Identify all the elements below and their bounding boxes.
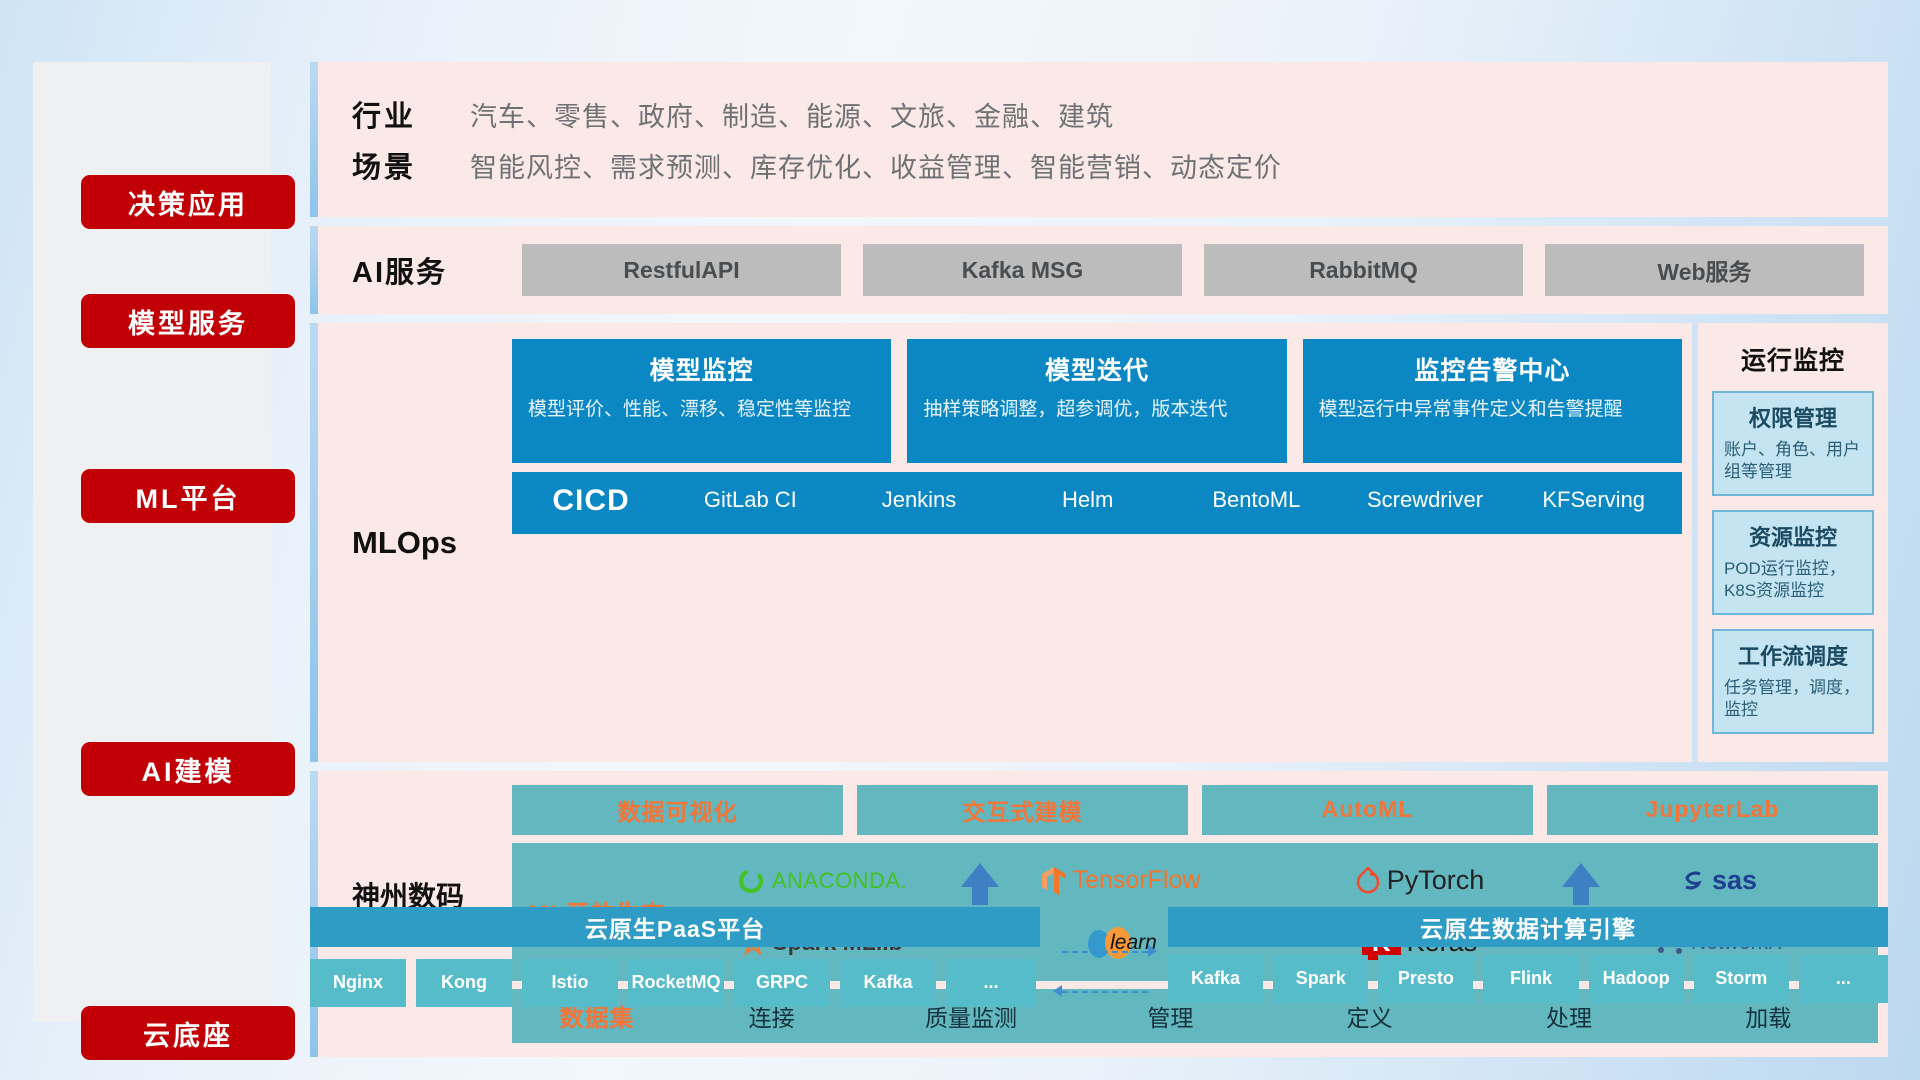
monitor-card-workflow[interactable]: 工作流调度 任务管理，调度，监控: [1712, 629, 1874, 734]
layer-rail: 决策应用 模型服务 ML平台 AI建模 云底座: [33, 62, 271, 1022]
mlops-card-desc: 抽样策略调整，超参调优，版本迭代: [923, 397, 1270, 422]
cicd-title: CICD: [516, 480, 666, 518]
rail-item-ai-modeling[interactable]: AI建模: [81, 742, 295, 796]
monitor-card-desc: 任务管理，调度，监控: [1724, 677, 1862, 722]
ai-service-chip-row: RestfulAPI Kafka MSG RabbitMQ Web服务: [522, 244, 1864, 296]
scenario-value: 智能风控、需求预测、库存优化、收益管理、智能营销、动态定价: [470, 146, 1282, 185]
arrow-up-data-stem: [1573, 887, 1589, 905]
mllab-tool-automl[interactable]: AutoML: [1202, 785, 1533, 835]
data-chip-hadoop[interactable]: Hadoop: [1589, 955, 1684, 1003]
service-chip-web[interactable]: Web服务: [1545, 244, 1864, 296]
mlops-card-title: 监控告警中心: [1319, 351, 1666, 387]
arrow-up-data-icon: [1562, 863, 1600, 887]
mlops-card-alert-center[interactable]: 监控告警中心 模型运行中异常事件定义和告警提醒: [1303, 339, 1682, 463]
data-chip-presto[interactable]: Presto: [1378, 955, 1473, 1003]
cicd-row: CICD GitLab CI Jenkins Helm BentoML Scre…: [512, 472, 1682, 534]
band-ml-platform: MLOps 模型监控 模型评价、性能、漂移、稳定性等监控 模型迭代 抽样策略调整…: [310, 323, 1888, 762]
paas-chip-nginx[interactable]: Nginx: [310, 959, 406, 1007]
cloud-base-layer: 云原生PaaS平台 Nginx Kong Istio RocketMQ GRPC…: [310, 885, 1888, 1025]
industry-row: 行业 汽车、零售、政府、制造、能源、文旅、金融、建筑: [352, 93, 1862, 135]
data-chip-kafka[interactable]: Kafka: [1168, 955, 1263, 1003]
mlops-card-title: 模型监控: [528, 351, 875, 387]
cicd-item-screwdriver[interactable]: Screwdriver: [1341, 480, 1510, 511]
scenario-label: 场景: [352, 144, 470, 186]
cicd-item-jenkins[interactable]: Jenkins: [835, 480, 1004, 511]
runtime-monitor-panel: 运行监控 权限管理 账户、角色、用户组等管理 资源监控 POD运行监控，K8S资…: [1692, 323, 1888, 762]
paas-chip-grpc[interactable]: GRPC: [734, 959, 830, 1007]
mllab-tool-row: 数据可视化 交互式建模 AutoML JupyterLab: [512, 785, 1878, 835]
diagram-canvas: 决策应用 模型服务 ML平台 AI建模 云底座 行业 汽车、零售、政府、制造、能…: [0, 0, 1920, 1080]
mllab-tool-interactive-modeling[interactable]: 交互式建模: [857, 785, 1188, 835]
data-chip-row: Kafka Spark Presto Flink Hadoop Storm ..…: [1168, 955, 1888, 1003]
mlops-card-desc: 模型评价、性能、漂移、稳定性等监控: [528, 397, 875, 422]
monitor-card-permission[interactable]: 权限管理 账户、角色、用户组等管理: [1712, 391, 1874, 496]
mlops-section: MLOps 模型监控 模型评价、性能、漂移、稳定性等监控 模型迭代 抽样策略调整…: [318, 323, 1692, 762]
cloud-bar-paas[interactable]: 云原生PaaS平台: [310, 907, 1040, 947]
mlops-card-title: 模型迭代: [923, 351, 1270, 387]
service-chip-restfulapi[interactable]: RestfulAPI: [522, 244, 841, 296]
mlops-card-desc: 模型运行中异常事件定义和告警提醒: [1319, 397, 1666, 422]
paas-chip-istio[interactable]: Istio: [522, 959, 618, 1007]
connector-arrow-right-icon: [1148, 945, 1157, 957]
arrow-up-paas-icon: [961, 863, 999, 887]
paas-chip-kafka[interactable]: Kafka: [840, 959, 936, 1007]
cicd-item-bentoml[interactable]: BentoML: [1172, 480, 1341, 511]
connector-dashed-left: [1062, 991, 1148, 993]
industry-value: 汽车、零售、政府、制造、能源、文旅、金融、建筑: [470, 95, 1114, 134]
paas-chip-kong[interactable]: Kong: [416, 959, 512, 1007]
monitor-card-resource[interactable]: 资源监控 POD运行监控，K8S资源监控: [1712, 510, 1874, 615]
runtime-monitor-title: 运行监控: [1712, 341, 1874, 377]
band-decision-app: 行业 汽车、零售、政府、制造、能源、文旅、金融、建筑 场景 智能风控、需求预测、…: [310, 62, 1888, 217]
data-chip-spark[interactable]: Spark: [1273, 955, 1368, 1003]
rail-item-cloud-base[interactable]: 云底座: [81, 1006, 295, 1060]
ai-service-label: AI服务: [352, 249, 522, 291]
mlops-card-row: 模型监控 模型评价、性能、漂移、稳定性等监控 模型迭代 抽样策略调整，超参调优，…: [512, 339, 1682, 463]
monitor-card-title: 工作流调度: [1724, 639, 1862, 671]
cicd-item-gitlab-ci[interactable]: GitLab CI: [666, 480, 835, 511]
mllab-tool-jupyterlab[interactable]: JupyterLab: [1547, 785, 1878, 835]
service-chip-rabbitmq[interactable]: RabbitMQ: [1204, 244, 1523, 296]
rail-item-model-service[interactable]: 模型服务: [81, 294, 295, 348]
data-chip-more[interactable]: ...: [1799, 955, 1888, 1003]
connector-arrow-left-icon: [1053, 985, 1062, 997]
monitor-card-desc: POD运行监控，K8S资源监控: [1724, 558, 1862, 603]
mllab-tool-data-visualization[interactable]: 数据可视化: [512, 785, 843, 835]
monitor-card-title: 资源监控: [1724, 520, 1862, 552]
arrow-up-paas-stem: [972, 887, 988, 905]
rail-item-ml-platform[interactable]: ML平台: [81, 469, 295, 523]
data-chip-storm[interactable]: Storm: [1694, 955, 1789, 1003]
monitor-card-desc: 账户、角色、用户组等管理: [1724, 439, 1862, 484]
mlops-stack: 模型监控 模型评价、性能、漂移、稳定性等监控 模型迭代 抽样策略调整，超参调优，…: [512, 339, 1682, 748]
cicd-item-kfserving[interactable]: KFServing: [1509, 480, 1678, 511]
rail-item-decision-app[interactable]: 决策应用: [81, 175, 295, 229]
scenario-row: 场景 智能风控、需求预测、库存优化、收益管理、智能营销、动态定价: [352, 144, 1862, 186]
cloud-bar-data-engine[interactable]: 云原生数据计算引擎: [1168, 907, 1888, 947]
paas-chip-more[interactable]: ...: [946, 959, 1036, 1007]
data-chip-flink[interactable]: Flink: [1483, 955, 1578, 1003]
monitor-card-title: 权限管理: [1724, 401, 1862, 433]
mlops-card-model-monitor[interactable]: 模型监控 模型评价、性能、漂移、稳定性等监控: [512, 339, 891, 463]
paas-chip-row: Nginx Kong Istio RocketMQ GRPC Kafka ...: [310, 959, 1040, 1007]
mlops-card-model-iteration[interactable]: 模型迭代 抽样策略调整，超参调优，版本迭代: [907, 339, 1286, 463]
service-chip-kafka-msg[interactable]: Kafka MSG: [863, 244, 1182, 296]
mlops-label: MLOps: [352, 339, 512, 748]
cicd-item-helm[interactable]: Helm: [1003, 480, 1172, 511]
connector-dashed-right: [1062, 951, 1148, 953]
industry-label: 行业: [352, 93, 470, 135]
band-ai-service: AI服务 RestfulAPI Kafka MSG RabbitMQ Web服务: [310, 226, 1888, 314]
paas-chip-rocketmq[interactable]: RocketMQ: [628, 959, 724, 1007]
